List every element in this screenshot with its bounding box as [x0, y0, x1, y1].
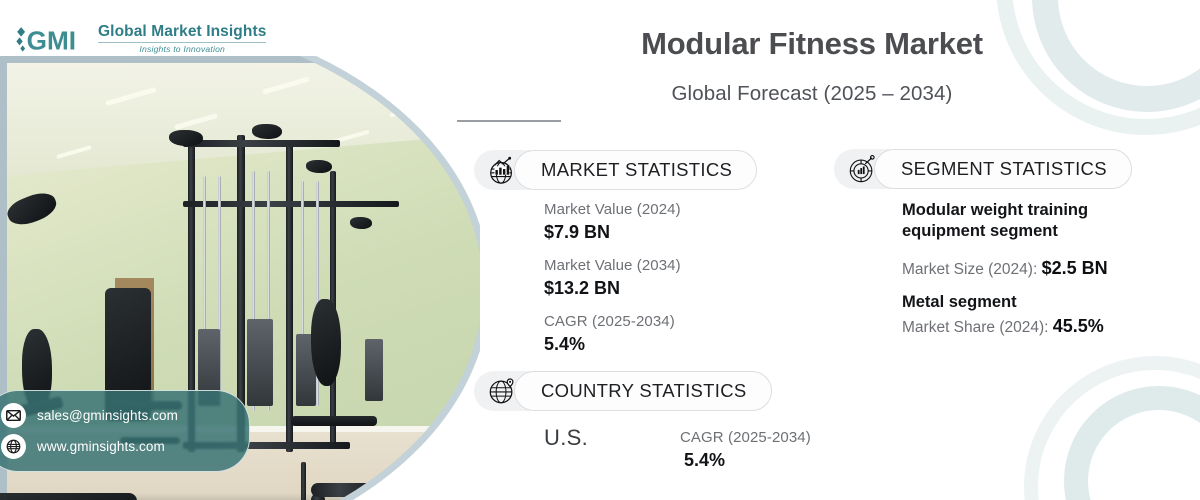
- brand-logo[interactable]: GMI Global Market Insights Insights to I…: [14, 22, 266, 56]
- brand-name: Global Market Insights: [98, 24, 266, 40]
- market-statistics-badge: MARKET STATISTICS: [474, 150, 757, 190]
- market-statistics-label: MARKET STATISTICS: [514, 150, 757, 190]
- segment-2-metric-value: 45.5%: [1053, 316, 1104, 336]
- segment-1-title: Modular weight training equipment segmen…: [902, 200, 1152, 242]
- content-area: Modular Fitness Market Global Forecast (…: [452, 0, 1200, 500]
- brand-tagline: Insights to Innovation: [98, 45, 266, 54]
- market-value-2024-value: $7.9 BN: [544, 222, 610, 243]
- cagr-value: 5.4%: [544, 334, 585, 355]
- segment-2-metric: Market Share (2024): 45.5%: [902, 316, 1104, 337]
- segment-2-title: Metal segment: [902, 292, 1152, 313]
- country-statistics-label: COUNTRY STATISTICS: [514, 371, 772, 411]
- contact-email-row[interactable]: sales@gminsights.com: [1, 400, 235, 431]
- contact-email-text: sales@gminsights.com: [37, 408, 178, 423]
- gmi-logo-mark-icon: GMI: [14, 22, 90, 56]
- segment-statistics-label: SEGMENT STATISTICS: [874, 149, 1132, 189]
- page-subtitle: Global Forecast (2025 – 2034): [452, 82, 1172, 106]
- market-value-2034-label: Market Value (2034): [544, 257, 681, 274]
- country-cagr-value: 5.4%: [684, 450, 725, 471]
- segment-1-metric: Market Size (2024): $2.5 BN: [902, 258, 1108, 279]
- contact-website-text: www.gminsights.com: [37, 439, 165, 454]
- country-name: U.S.: [544, 425, 588, 451]
- segment-1-metric-value: $2.5 BN: [1042, 258, 1108, 278]
- contact-panel: sales@gminsights.com www.gminsights.com: [0, 390, 250, 472]
- globe-icon: [1, 434, 26, 459]
- page-title: Modular Fitness Market: [452, 26, 1172, 62]
- country-cagr-label: CAGR (2025-2034): [680, 429, 811, 446]
- market-value-2024-label: Market Value (2024): [544, 201, 681, 218]
- segment-1-metric-label: Market Size (2024):: [902, 261, 1042, 278]
- hero-photo-panel: sales@gminsights.com www.gminsights.com: [0, 56, 480, 500]
- title-divider: [457, 120, 561, 122]
- brand-divider: [98, 42, 266, 43]
- market-value-2034-value: $13.2 BN: [544, 278, 620, 299]
- segment-statistics-badge: SEGMENT STATISTICS: [834, 149, 1132, 189]
- cagr-label: CAGR (2025-2034): [544, 313, 675, 330]
- country-statistics-badge: COUNTRY STATISTICS: [474, 371, 772, 411]
- envelope-icon: [1, 403, 26, 428]
- brand-logo-text: Global Market Insights Insights to Innov…: [98, 24, 266, 54]
- infographic-canvas: sales@gminsights.com www.gminsights.com: [0, 0, 1200, 500]
- contact-website-row[interactable]: www.gminsights.com: [1, 431, 235, 462]
- segment-2-metric-label: Market Share (2024):: [902, 319, 1053, 336]
- svg-text:GMI: GMI: [27, 25, 76, 55]
